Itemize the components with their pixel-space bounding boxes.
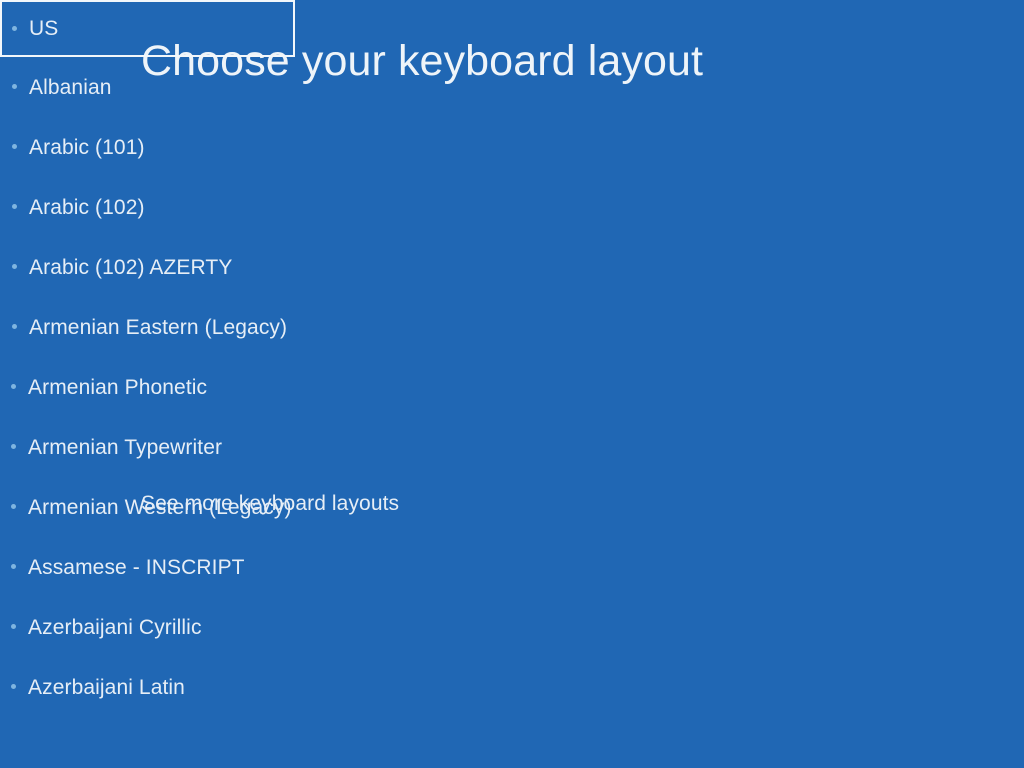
keyboard-layout-option-label: Arabic (102) AZERTY bbox=[29, 257, 232, 278]
keyboard-layout-option[interactable]: Assamese - INSCRIPT bbox=[0, 537, 400, 597]
see-more-keyboard-layouts-link[interactable]: See more keyboard layouts bbox=[141, 492, 399, 515]
keyboard-layout-option-label: US bbox=[29, 18, 58, 39]
keyboard-layout-option[interactable]: Armenian Eastern (Legacy) bbox=[0, 297, 330, 357]
bullet-icon bbox=[11, 564, 16, 569]
keyboard-layout-option[interactable]: Arabic (102) bbox=[0, 177, 330, 237]
keyboard-layout-option-label: Arabic (102) bbox=[29, 197, 145, 218]
keyboard-layout-option[interactable]: US bbox=[0, 0, 295, 57]
bullet-icon bbox=[11, 384, 16, 389]
keyboard-layout-list-left: USAlbanianArabic (101)Arabic (102)Arabic… bbox=[0, 0, 330, 357]
keyboard-layout-option-label: Azerbaijani Latin bbox=[28, 677, 185, 698]
keyboard-layout-option[interactable]: Arabic (101) bbox=[0, 117, 330, 177]
keyboard-layout-option[interactable]: Armenian Typewriter bbox=[0, 417, 400, 477]
bullet-icon bbox=[11, 624, 16, 629]
bullet-icon bbox=[11, 444, 16, 449]
keyboard-layout-option-label: Armenian Eastern (Legacy) bbox=[29, 317, 287, 338]
bullet-icon bbox=[12, 26, 17, 31]
bullet-icon bbox=[12, 324, 17, 329]
bullet-icon bbox=[11, 504, 16, 509]
keyboard-layout-option-label: Armenian Phonetic bbox=[28, 377, 207, 398]
bullet-icon bbox=[11, 684, 16, 689]
keyboard-layout-screen: Choose your keyboard layout USAlbanianAr… bbox=[0, 0, 1024, 768]
bullet-icon bbox=[12, 144, 17, 149]
keyboard-layout-list-right: Armenian PhoneticArmenian TypewriterArme… bbox=[0, 357, 400, 717]
bullet-icon bbox=[12, 84, 17, 89]
keyboard-layout-option[interactable]: Arabic (102) AZERTY bbox=[0, 237, 330, 297]
keyboard-layout-option-label: Azerbaijani Cyrillic bbox=[28, 617, 202, 638]
keyboard-layout-option[interactable]: Albanian bbox=[0, 57, 330, 117]
keyboard-layout-option[interactable]: Armenian Phonetic bbox=[0, 357, 400, 417]
bullet-icon bbox=[12, 204, 17, 209]
keyboard-layout-option-label: Assamese - INSCRIPT bbox=[28, 557, 245, 578]
keyboard-layout-option[interactable]: Azerbaijani Latin bbox=[0, 657, 400, 717]
keyboard-layout-option-label: Arabic (101) bbox=[29, 137, 145, 158]
keyboard-layout-option-label: Albanian bbox=[29, 77, 112, 98]
keyboard-layout-option[interactable]: Azerbaijani Cyrillic bbox=[0, 597, 400, 657]
bullet-icon bbox=[12, 264, 17, 269]
keyboard-layout-option-label: Armenian Typewriter bbox=[28, 437, 222, 458]
